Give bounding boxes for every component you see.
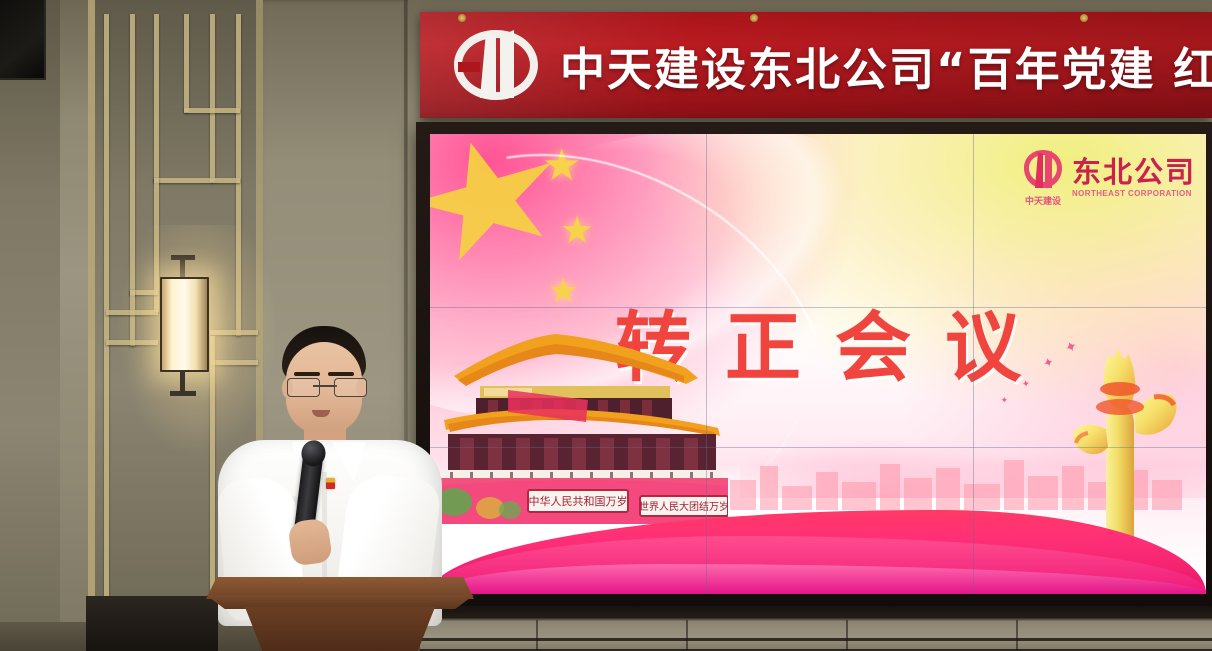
led-panel-seam xyxy=(973,134,974,594)
wall-sconce-lamp xyxy=(160,277,209,372)
stage-base xyxy=(416,606,1212,651)
presenter-eyebrow xyxy=(328,372,354,376)
lattice-bar xyxy=(130,290,135,346)
led-panel-seam xyxy=(430,447,1206,448)
eyeglasses-icon xyxy=(282,378,368,396)
flying-dove-icon: ✦ xyxy=(1000,396,1008,405)
wall-panel-left xyxy=(0,0,60,651)
banner-pin xyxy=(750,14,758,22)
stage-panel-split xyxy=(536,620,538,651)
presenter-eyebrow xyxy=(294,372,320,376)
screenshot-root: 中天建设东北公司“百年党建 红色记忆”党日活动 ★ ★ ★ xyxy=(0,0,1212,651)
zhongtian-mark-icon xyxy=(1022,148,1064,192)
lattice-bar xyxy=(106,310,158,315)
lectern-lip xyxy=(206,595,474,609)
slide-logo-chinese-name: 东北公司 xyxy=(1072,158,1196,187)
svg-text:世界人民大团结万岁: 世界人民大团结万岁 xyxy=(639,500,728,513)
glasses-lens xyxy=(287,378,320,397)
overhead-red-banner: 中天建设东北公司“百年党建 红色记忆”党日活动 xyxy=(420,12,1212,118)
lamp-shade xyxy=(160,277,209,372)
led-panel-seam xyxy=(706,134,707,594)
lectern-body xyxy=(232,607,448,651)
video-wall-screen: ★ ★ ★ 中天建设 xyxy=(430,134,1206,594)
zhongtian-mark-caption: 中天建设 xyxy=(1022,194,1064,207)
slide-logo-english-name: NORTHEAST CORPORATION xyxy=(1072,189,1196,198)
lattice-bar xyxy=(184,108,240,113)
stage-panel-split xyxy=(1016,620,1018,651)
stage-panel-split xyxy=(846,620,848,651)
lamp-bracket-top xyxy=(180,255,185,279)
flying-dove-icon: ✦ xyxy=(1021,379,1031,390)
banner-text: 中天建设东北公司“百年党建 红色记忆”党日活动 xyxy=(560,33,1212,98)
tiananmen-gate: 中华人民共和国万岁 世界人民大团结万岁 xyxy=(436,324,728,524)
svg-text:中华人民共和国万岁: 中华人民共和国万岁 xyxy=(529,494,628,508)
glasses-lens xyxy=(334,378,367,397)
led-panel-seam xyxy=(430,307,1206,308)
dark-floor-shadow xyxy=(86,596,218,651)
lamp-bracket-bottom xyxy=(180,370,185,396)
lattice-bar xyxy=(130,14,135,296)
lattice-bar xyxy=(154,14,159,182)
zhongtian-construction-logo xyxy=(450,26,542,104)
stage-panel-split xyxy=(686,620,688,651)
slide-corporate-logo: 中天建设 东北公司 NORTHEAST CORPORATION xyxy=(1022,148,1196,207)
golden-torch-monument xyxy=(1046,333,1196,548)
dark-wall-panel xyxy=(0,0,46,80)
lattice-bar xyxy=(184,14,189,112)
led-video-wall: ★ ★ ★ 中天建设 xyxy=(416,122,1212,610)
banner-pin xyxy=(458,14,466,22)
presentation-slide: ★ ★ ★ 中天建设 xyxy=(430,134,1206,594)
lattice-bar xyxy=(210,14,215,182)
wooden-lectern xyxy=(206,577,474,651)
lattice-bar xyxy=(154,178,240,183)
lattice-bar xyxy=(104,14,109,640)
party-emblem-pin xyxy=(326,478,335,489)
banner-pin xyxy=(1080,14,1088,22)
lattice-bar xyxy=(236,14,241,336)
lattice-bar xyxy=(106,340,158,345)
